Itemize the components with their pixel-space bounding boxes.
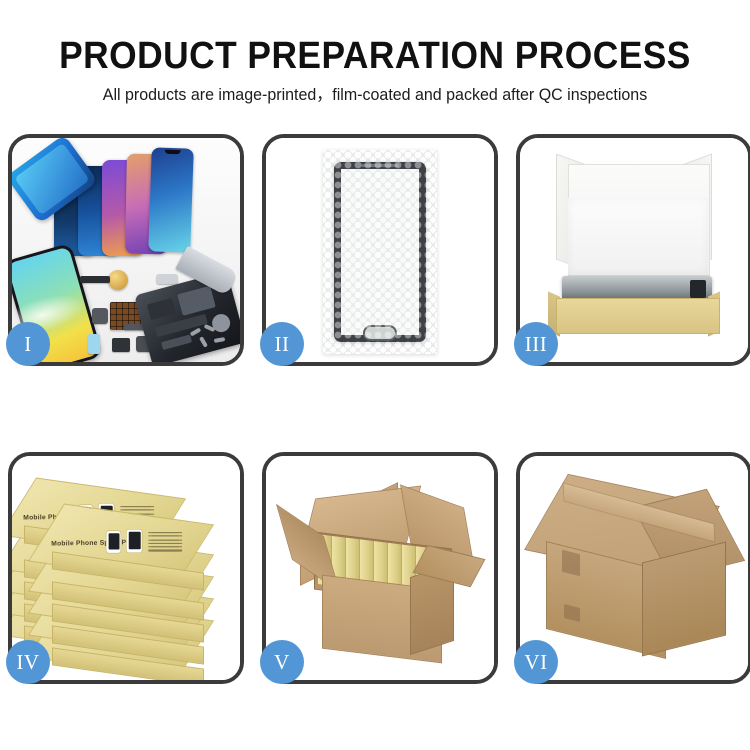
bubble-wrap-scene <box>266 138 494 362</box>
box-phone-image-1 <box>106 531 120 553</box>
carton-seam-patch-1 <box>562 550 580 576</box>
checklist-line <box>152 532 182 533</box>
board-chip-1 <box>147 298 176 320</box>
screws-group <box>190 326 230 352</box>
step-badge-4: IV <box>6 640 50 684</box>
checklist-line <box>152 550 182 551</box>
checklist-line <box>124 506 154 507</box>
step-3-image <box>520 138 748 362</box>
screw-2 <box>204 324 216 332</box>
step-panel-5: V <box>262 452 498 684</box>
home-button <box>363 325 397 341</box>
carton-filling-scene <box>266 456 494 680</box>
step-badge-6: VI <box>514 640 558 684</box>
step-1-image <box>12 138 240 362</box>
dark-chip-part <box>112 338 130 352</box>
screw-1 <box>190 328 202 337</box>
page-subtitle: All products are image-printed，film-coat… <box>11 84 739 106</box>
flex-cable-part <box>80 276 110 283</box>
step-panel-4: Mobile Phone Spare Parts <box>8 452 244 684</box>
checklist-line <box>124 510 154 511</box>
step-2-image <box>266 138 494 362</box>
screw-4 <box>214 337 226 343</box>
screw-3 <box>199 336 208 348</box>
phone-glass-panel <box>334 162 426 342</box>
step-panel-1: I <box>8 134 244 366</box>
earpiece-slot <box>361 164 399 167</box>
checklist-line <box>152 536 182 537</box>
step-panel-6: VI <box>516 452 750 684</box>
step-panel-2: II <box>262 134 498 366</box>
blue-strip-part <box>88 334 100 354</box>
step-badge-1: I <box>6 322 50 366</box>
page-title: PRODUCT PREPARATION PROCESS <box>26 34 724 78</box>
sealed-carton-scene <box>520 456 748 680</box>
stacked-boxes-scene: Mobile Phone Spare Parts <box>12 456 240 680</box>
checklist-line <box>152 539 182 540</box>
inner-box-scene <box>520 138 748 362</box>
checklist-line <box>152 543 182 544</box>
box-front-wall <box>556 298 720 334</box>
process-grid: I II <box>0 134 750 694</box>
speaker-part-icon <box>108 270 128 290</box>
small-module-part <box>92 308 108 324</box>
step-4-image: Mobile Phone Spare Parts <box>12 456 240 680</box>
board-chip-2 <box>177 286 216 316</box>
phone-screen-1 <box>148 147 194 252</box>
step-badge-2: II <box>260 322 304 366</box>
step-badge-5: V <box>260 640 304 684</box>
box-stack: Mobile Phone Spare Parts <box>18 470 240 670</box>
infographic-page: PRODUCT PREPARATION PROCESS All products… <box>0 0 750 750</box>
phone-parts-scene <box>12 138 240 362</box>
white-clip-part <box>156 274 178 284</box>
step-badge-3: III <box>514 322 558 366</box>
phone-notch <box>165 150 181 155</box>
sealed-carton-side-face <box>642 542 726 657</box>
step-6-image <box>520 456 748 680</box>
checklist-line <box>152 546 182 547</box>
step-panel-3: III <box>516 134 750 366</box>
box-checklist <box>152 532 182 553</box>
foam-lining <box>568 198 708 274</box>
box-phone-image-2 <box>127 530 142 553</box>
step-5-image <box>266 456 494 680</box>
board-chip-4 <box>161 335 192 350</box>
